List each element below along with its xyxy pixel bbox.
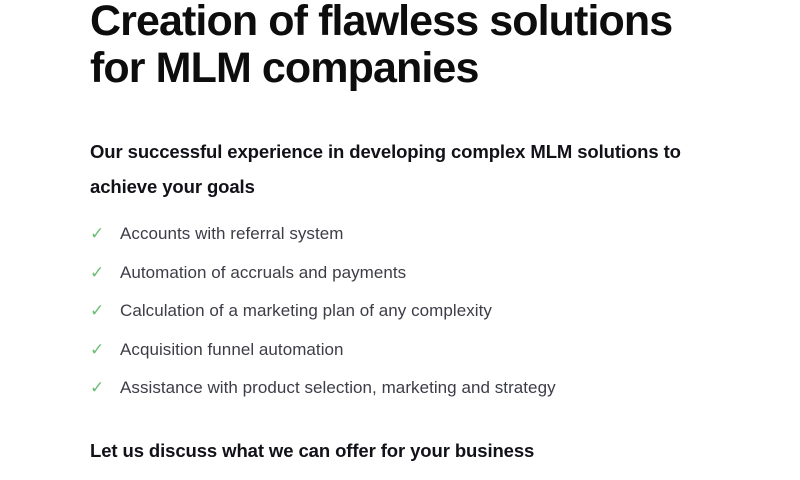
list-item: ✓ Accounts with referral system (90, 222, 750, 261)
feature-list: ✓ Accounts with referral system ✓ Automa… (90, 222, 750, 415)
list-item: ✓ Acquisition funnel automation (90, 338, 750, 377)
check-icon: ✓ (90, 261, 120, 285)
check-icon: ✓ (90, 222, 120, 246)
page-subtitle: Our successful experience in developing … (90, 134, 750, 204)
list-item: ✓ Assistance with product selection, mar… (90, 376, 750, 415)
list-item-label: Acquisition funnel automation (120, 338, 750, 362)
list-item-label: Automation of accruals and payments (120, 261, 750, 285)
list-item-label: Calculation of a marketing plan of any c… (120, 299, 750, 323)
check-icon: ✓ (90, 338, 120, 362)
check-icon: ✓ (90, 376, 120, 400)
list-item: ✓ Calculation of a marketing plan of any… (90, 299, 750, 338)
list-item-label: Assistance with product selection, marke… (120, 376, 750, 400)
list-item: ✓ Automation of accruals and payments (90, 261, 750, 300)
content-block: Creation of flawless solutions for MLM c… (90, 0, 770, 94)
list-item-label: Accounts with referral system (120, 222, 750, 246)
page-root: Creation of flawless solutions for MLM c… (0, 0, 800, 480)
page-title: Creation of flawless solutions for MLM c… (90, 0, 770, 92)
check-icon: ✓ (90, 299, 120, 323)
cta-heading: Let us discuss what we can offer for you… (90, 438, 750, 464)
